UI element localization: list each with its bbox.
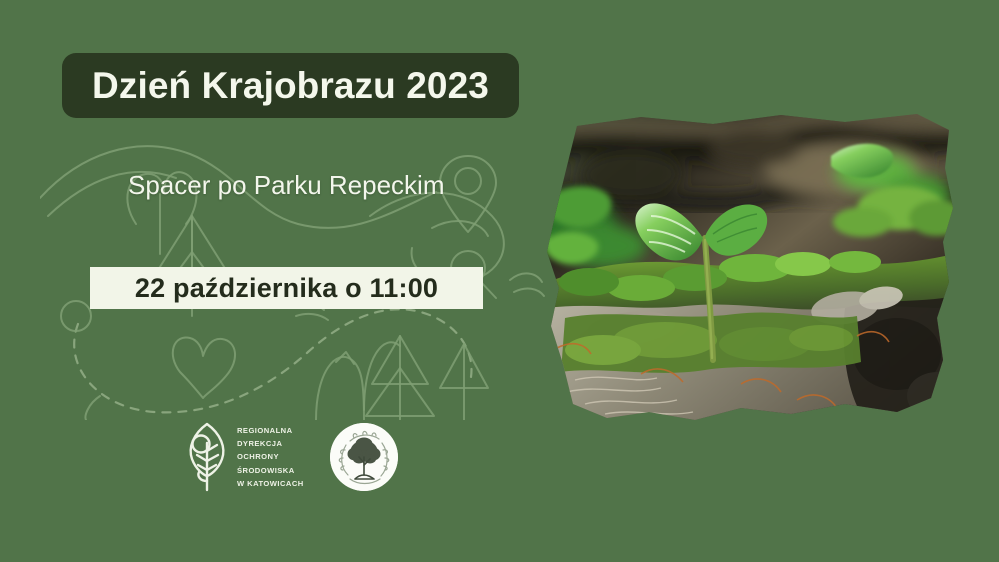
event-datetime: 22 października o 11:00 (135, 273, 438, 304)
leaf-outline-icon (186, 421, 228, 493)
date-banner: 22 października o 11:00 (90, 267, 483, 309)
logo-row: REGIONALNA DYREKCJA OCHRONY ŚRODOWISKA W… (186, 421, 398, 493)
logo-rdos: REGIONALNA DYREKCJA OCHRONY ŚRODOWISKA W… (186, 421, 304, 493)
poster-canvas: Dzień Krajobrazu 2023 Spacer po Parku Re… (0, 0, 999, 562)
logo-line-3: OCHRONY (237, 450, 304, 463)
logo-line-4: ŚRODOWISKA (237, 464, 304, 477)
tree-in-circle-emblem-icon (330, 423, 398, 491)
logo-rdos-wordmark: REGIONALNA DYREKCJA OCHRONY ŚRODOWISKA W… (237, 424, 304, 489)
event-subtitle: Spacer po Parku Repeckim (128, 170, 444, 201)
logo-line-1: REGIONALNA (237, 424, 304, 437)
title-banner: Dzień Krajobrazu 2023 (62, 53, 519, 118)
logo-line-2: DYREKCJA (237, 437, 304, 450)
logo-line-5: W KATOWICACH (237, 477, 304, 490)
event-photo (545, 112, 955, 430)
page-title: Dzień Krajobrazu 2023 (92, 65, 489, 107)
